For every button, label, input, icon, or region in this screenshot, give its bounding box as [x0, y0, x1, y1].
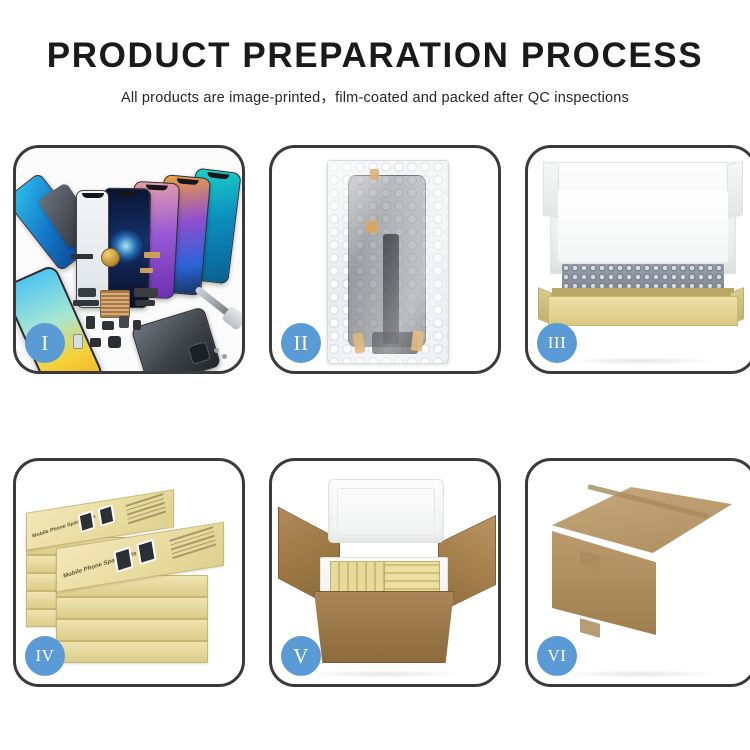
part-bar-1-icon — [71, 254, 93, 259]
bubble-wrap-bag-icon — [327, 160, 449, 364]
stacked-box-front-2 — [56, 641, 208, 663]
page-title: PRODUCT PREPARATION PROCESS — [0, 38, 750, 75]
box-text-lines-front — [170, 526, 217, 561]
notch-icon — [176, 178, 198, 185]
small-part-2-icon — [102, 321, 114, 330]
sim-tray-icon — [73, 334, 83, 349]
box-thumb-front-1 — [113, 546, 133, 573]
phone-back-housing-icon — [131, 306, 222, 371]
step-panel-3: III — [525, 145, 750, 374]
flex-cable-3-icon — [134, 288, 158, 297]
tape-strip-1-icon — [370, 169, 379, 180]
flex-cable-1-icon — [78, 288, 96, 297]
drop-shadow — [562, 670, 720, 678]
box-thumb-rear-1 — [78, 510, 96, 533]
notch-icon — [207, 172, 229, 180]
wrapped-screen-part-icon — [348, 175, 426, 347]
page-subtitle: All products are image-printed，film-coat… — [0, 86, 750, 107]
step-badge-2: II — [281, 323, 321, 363]
camera-module-icon — [108, 336, 121, 348]
stacked-box-front-3 — [56, 619, 208, 641]
box-text-lines-rear — [125, 493, 166, 527]
box-thumb-rear-2 — [98, 504, 116, 527]
step-panel-2: II — [269, 145, 501, 374]
product-preparation-infographic: PRODUCT PREPARATION PROCESS All products… — [0, 0, 750, 750]
box-thumb-front-2 — [136, 539, 156, 566]
part-bar-3-icon — [140, 268, 153, 273]
drop-shadow — [562, 357, 720, 365]
foam-lid-icon — [328, 479, 444, 543]
step-panel-5: V — [269, 458, 501, 687]
step-panel-4: Mobile Phone Spare Parts Mobile Phone Sp… — [13, 458, 245, 687]
flex-cable-4-icon — [135, 300, 155, 306]
step-badge-3: III — [537, 323, 577, 363]
wrapped-flex-cable-icon — [383, 234, 399, 344]
flex-cable-2-icon — [73, 300, 99, 306]
small-part-1-icon — [86, 316, 95, 329]
small-part-3-icon — [119, 316, 129, 328]
steps-grid: I II — [13, 145, 737, 690]
drop-shadow — [306, 670, 464, 678]
part-bar-2-icon — [144, 252, 160, 258]
notch-icon — [82, 193, 104, 198]
foam-sheet-icon — [558, 190, 728, 262]
stacked-box-front-4 — [56, 597, 208, 619]
notch-icon — [116, 191, 138, 196]
header: PRODUCT PREPARATION PROCESS All products… — [0, 0, 750, 107]
notch-icon — [146, 184, 168, 190]
step-badge-1: I — [25, 323, 65, 363]
step-badge-4: IV — [25, 636, 65, 676]
screw-2-icon — [222, 354, 227, 359]
tape-strip-2-icon — [366, 221, 378, 233]
vibration-motor-icon — [101, 248, 120, 267]
carton-tape-patch-2-icon — [580, 618, 600, 638]
step-panel-6: VI — [525, 458, 750, 687]
step-badge-6: VI — [537, 636, 577, 676]
carton-body-icon — [314, 591, 454, 663]
step-panel-1: I — [13, 145, 245, 374]
screw-1-icon — [214, 348, 219, 353]
step-badge-5: V — [281, 636, 321, 676]
small-part-6-icon — [90, 338, 101, 347]
chip-grid-icon — [100, 290, 130, 318]
yellow-mailer-box-icon — [548, 296, 738, 326]
tape-strip-4-icon — [411, 330, 424, 351]
small-part-4-icon — [133, 320, 141, 330]
